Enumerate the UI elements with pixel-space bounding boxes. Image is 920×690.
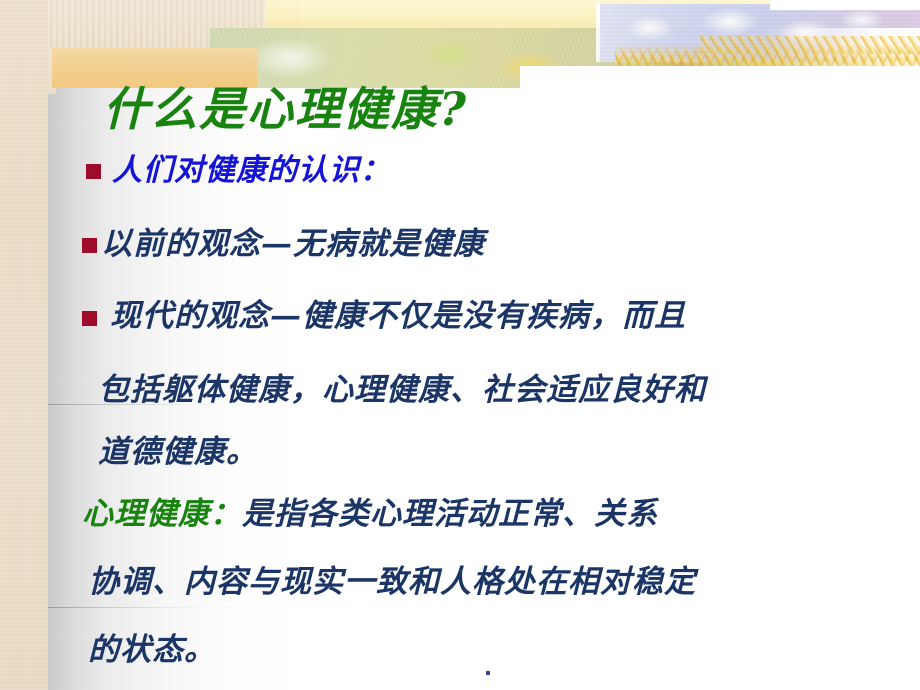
bullet-item-modern-concept: 现代的观念—健康不仅是没有疾病，而且 (82, 298, 686, 335)
square-bullet-icon (82, 311, 97, 326)
page-marker-dot (486, 671, 490, 675)
slide-canvas: 什么是心理健康? 人们对健康的认识： 以前的观念—无病就是健康 现代的观念—健康… (0, 0, 920, 690)
definition-line-3: 的状态。 (88, 624, 216, 669)
bullet-label-awareness: 人们对健康的认识： (112, 154, 391, 189)
bullet-label-old-concept: 以前的观念—无病就是健康 (101, 226, 485, 263)
bullet-item-old-concept: 以前的观念—无病就是健康 (82, 226, 485, 263)
text-layer: 什么是心理健康? 人们对健康的认识： 以前的观念—无病就是健康 现代的观念—健康… (48, 78, 920, 690)
definition-line-1-rest: 是指各类心理活动正常、关系 (242, 496, 658, 532)
definition-term: 心理健康： (82, 496, 242, 532)
bullet-item-awareness: 人们对健康的认识： (86, 154, 391, 189)
square-bullet-icon (86, 164, 101, 179)
modern-concept-line-2: 包括躯体健康，心理健康、社会适应良好和 (98, 364, 706, 409)
banner-white-wedge-top-right (770, 0, 920, 10)
modern-concept-line-3: 道德健康。 (98, 426, 258, 471)
beige-texture-strip (0, 0, 48, 690)
definition-line-2: 协调、内容与现实一致和人格处在相对稳定 (88, 556, 696, 601)
page-title: 什么是心理健康? (103, 85, 468, 133)
definition-line-1: 心理健康：是指各类心理活动正常、关系 (82, 488, 658, 533)
square-bullet-icon (82, 238, 97, 253)
bullet-label-modern-concept: 现代的观念—健康不仅是没有疾病，而且 (110, 298, 686, 335)
